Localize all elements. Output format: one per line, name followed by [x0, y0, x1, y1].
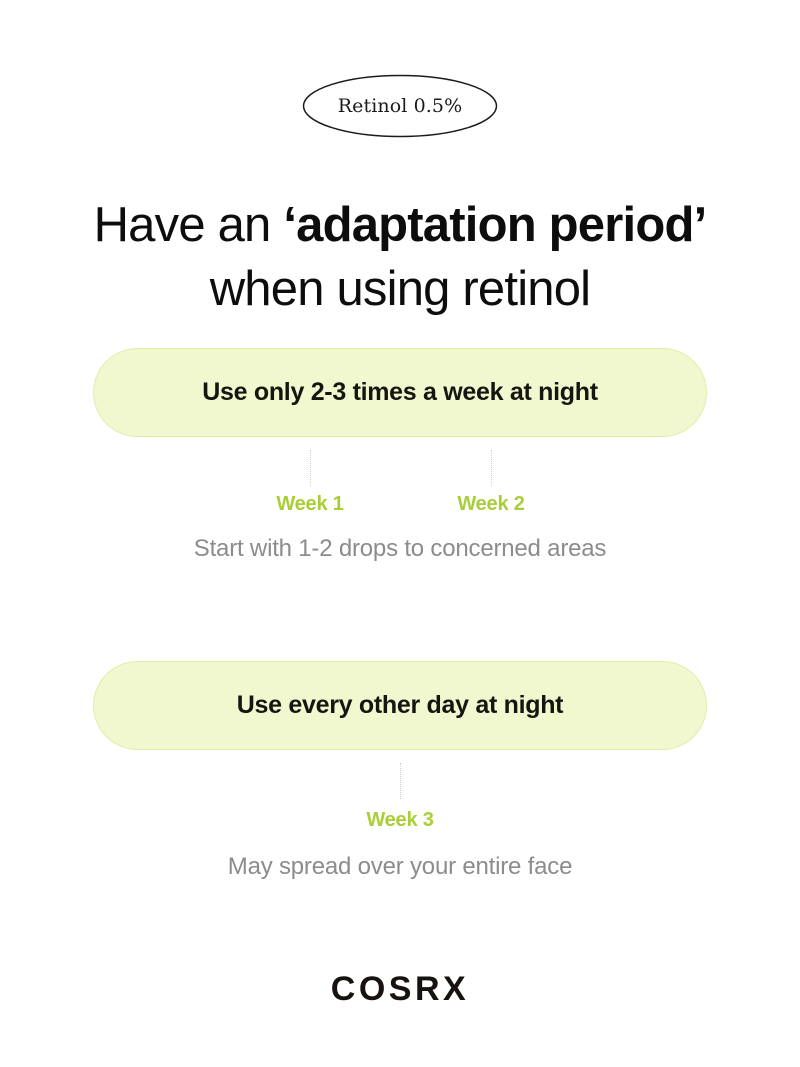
brand-logo: COSRX — [0, 972, 800, 1006]
badge-container: Retinol 0.5% — [0, 72, 800, 140]
step-1-pill: Use only 2-3 times a week at night — [93, 348, 707, 437]
heading-line-1: Have an ‘adaptation period’ — [94, 198, 707, 252]
step-2-pill: Use every other day at night — [93, 661, 707, 750]
step-2-pill-label: Use every other day at night — [237, 693, 563, 718]
infographic-page: Retinol 0.5% Have an ‘adaptation period’… — [0, 0, 800, 1067]
heading-emphasis-text: ‘adaptation period’ — [283, 198, 706, 252]
step-1-pill-label: Use only 2-3 times a week at night — [202, 380, 598, 405]
page-title: Have an ‘adaptation period’ when using r… — [0, 193, 800, 321]
connector-line-week-1 — [310, 450, 311, 486]
heading-plain-text: Have an — [94, 198, 284, 252]
week-label-2: Week 2 — [457, 494, 524, 514]
connector-line-week-3 — [400, 763, 401, 799]
heading-line-2: when using retinol — [0, 257, 800, 321]
week-label-3: Week 3 — [366, 810, 433, 830]
retinol-badge: Retinol 0.5% — [302, 74, 498, 138]
connector-line-week-2 — [491, 450, 492, 486]
step-2-caption: May spread over your entire face — [0, 855, 800, 879]
step-1-caption: Start with 1-2 drops to concerned areas — [0, 537, 800, 561]
week-label-1: Week 1 — [276, 494, 343, 514]
badge-label: Retinol 0.5% — [338, 97, 463, 116]
